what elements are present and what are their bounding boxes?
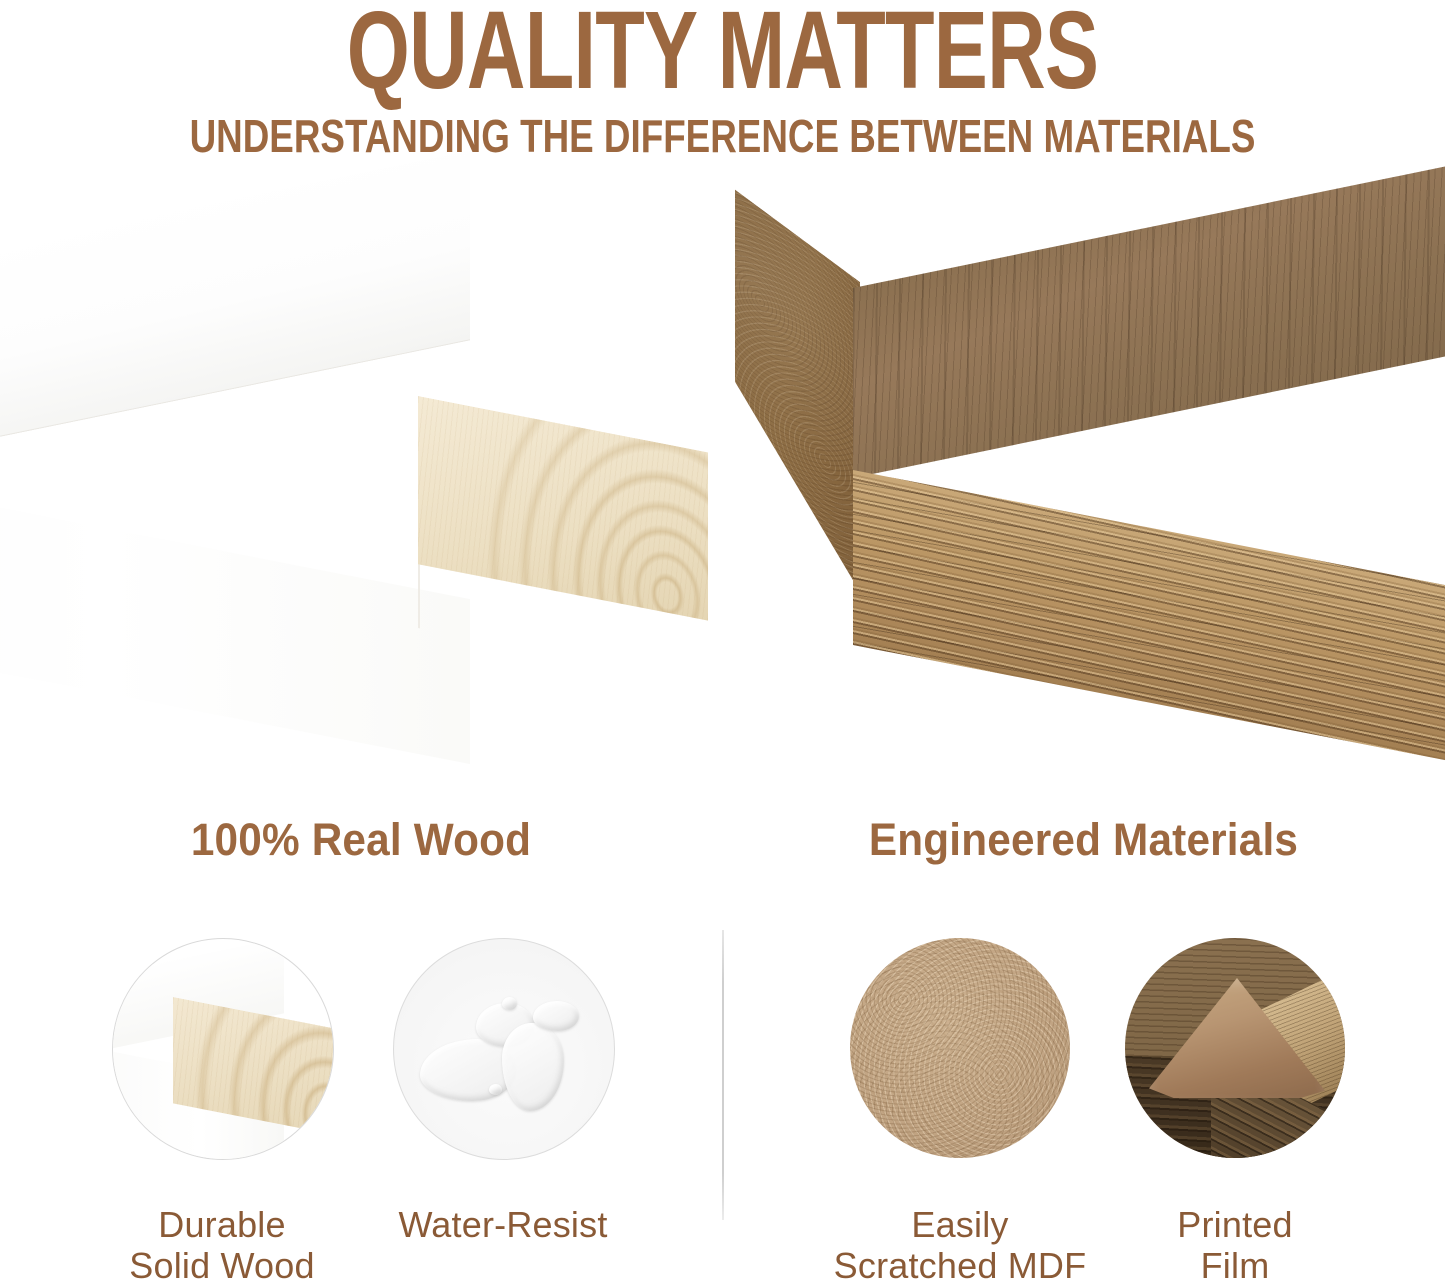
shelf-front-face-white xyxy=(0,463,470,764)
feature-row: Durable Solid Wood Water-Resist xyxy=(0,938,1445,1271)
feature-caption-water-resist: Water-Resist xyxy=(353,1204,653,1245)
caption-line-2: Film xyxy=(1085,1245,1385,1286)
engineered-mdf-shelf-image xyxy=(735,288,1445,688)
solid-wood-shelf-image xyxy=(0,278,710,678)
infographic-canvas: QUALITY MATTERS UNDERSTANDING THE DIFFER… xyxy=(0,0,1445,1271)
water-droplet xyxy=(502,997,517,1010)
mdf-particle-board-icon xyxy=(850,938,1070,1158)
shelf-front-printed-film xyxy=(853,470,1445,773)
water-droplet xyxy=(502,1023,564,1111)
shelf-top-surface-rustic xyxy=(853,153,1445,478)
page-title: QUALITY MATTERS xyxy=(159,0,1286,106)
shelf-top-surface-white xyxy=(0,150,470,484)
water-droplet xyxy=(533,1001,579,1031)
feature-caption-easily-scratched-mdf: Easily Scratched MDF xyxy=(810,1204,1110,1286)
shelf-side-mdf-core xyxy=(735,190,860,592)
water-droplet xyxy=(420,1039,516,1101)
peeling-printed-film-icon xyxy=(1125,938,1345,1158)
section-heading-real-wood: 100% Real Wood xyxy=(22,812,701,868)
section-heading-engineered: Engineered Materials xyxy=(744,812,1424,868)
hero-comparison-images xyxy=(0,248,1445,688)
caption-line-2: Scratched MDF xyxy=(810,1245,1110,1286)
caption-line-1: Durable xyxy=(72,1204,372,1245)
caption-line-2: Solid Wood xyxy=(72,1245,372,1286)
caption-line-1: Printed xyxy=(1085,1204,1385,1245)
water-droplets-icon xyxy=(393,938,615,1160)
section-headings: 100% Real Wood Engineered Materials xyxy=(0,812,1445,892)
water-droplet xyxy=(489,1084,502,1095)
feature-caption-durable-solid-wood: Durable Solid Wood xyxy=(72,1204,372,1286)
caption-line-1: Easily xyxy=(810,1204,1110,1245)
header-block: QUALITY MATTERS UNDERSTANDING THE DIFFER… xyxy=(0,0,1445,190)
caption-line-1: Water-Resist xyxy=(353,1204,653,1245)
feature-caption-printed-film: Printed Film xyxy=(1085,1204,1385,1286)
page-subtitle: UNDERSTANDING THE DIFFERENCE BETWEEN MAT… xyxy=(145,113,1301,159)
solid-wood-shelf-icon xyxy=(112,938,334,1160)
